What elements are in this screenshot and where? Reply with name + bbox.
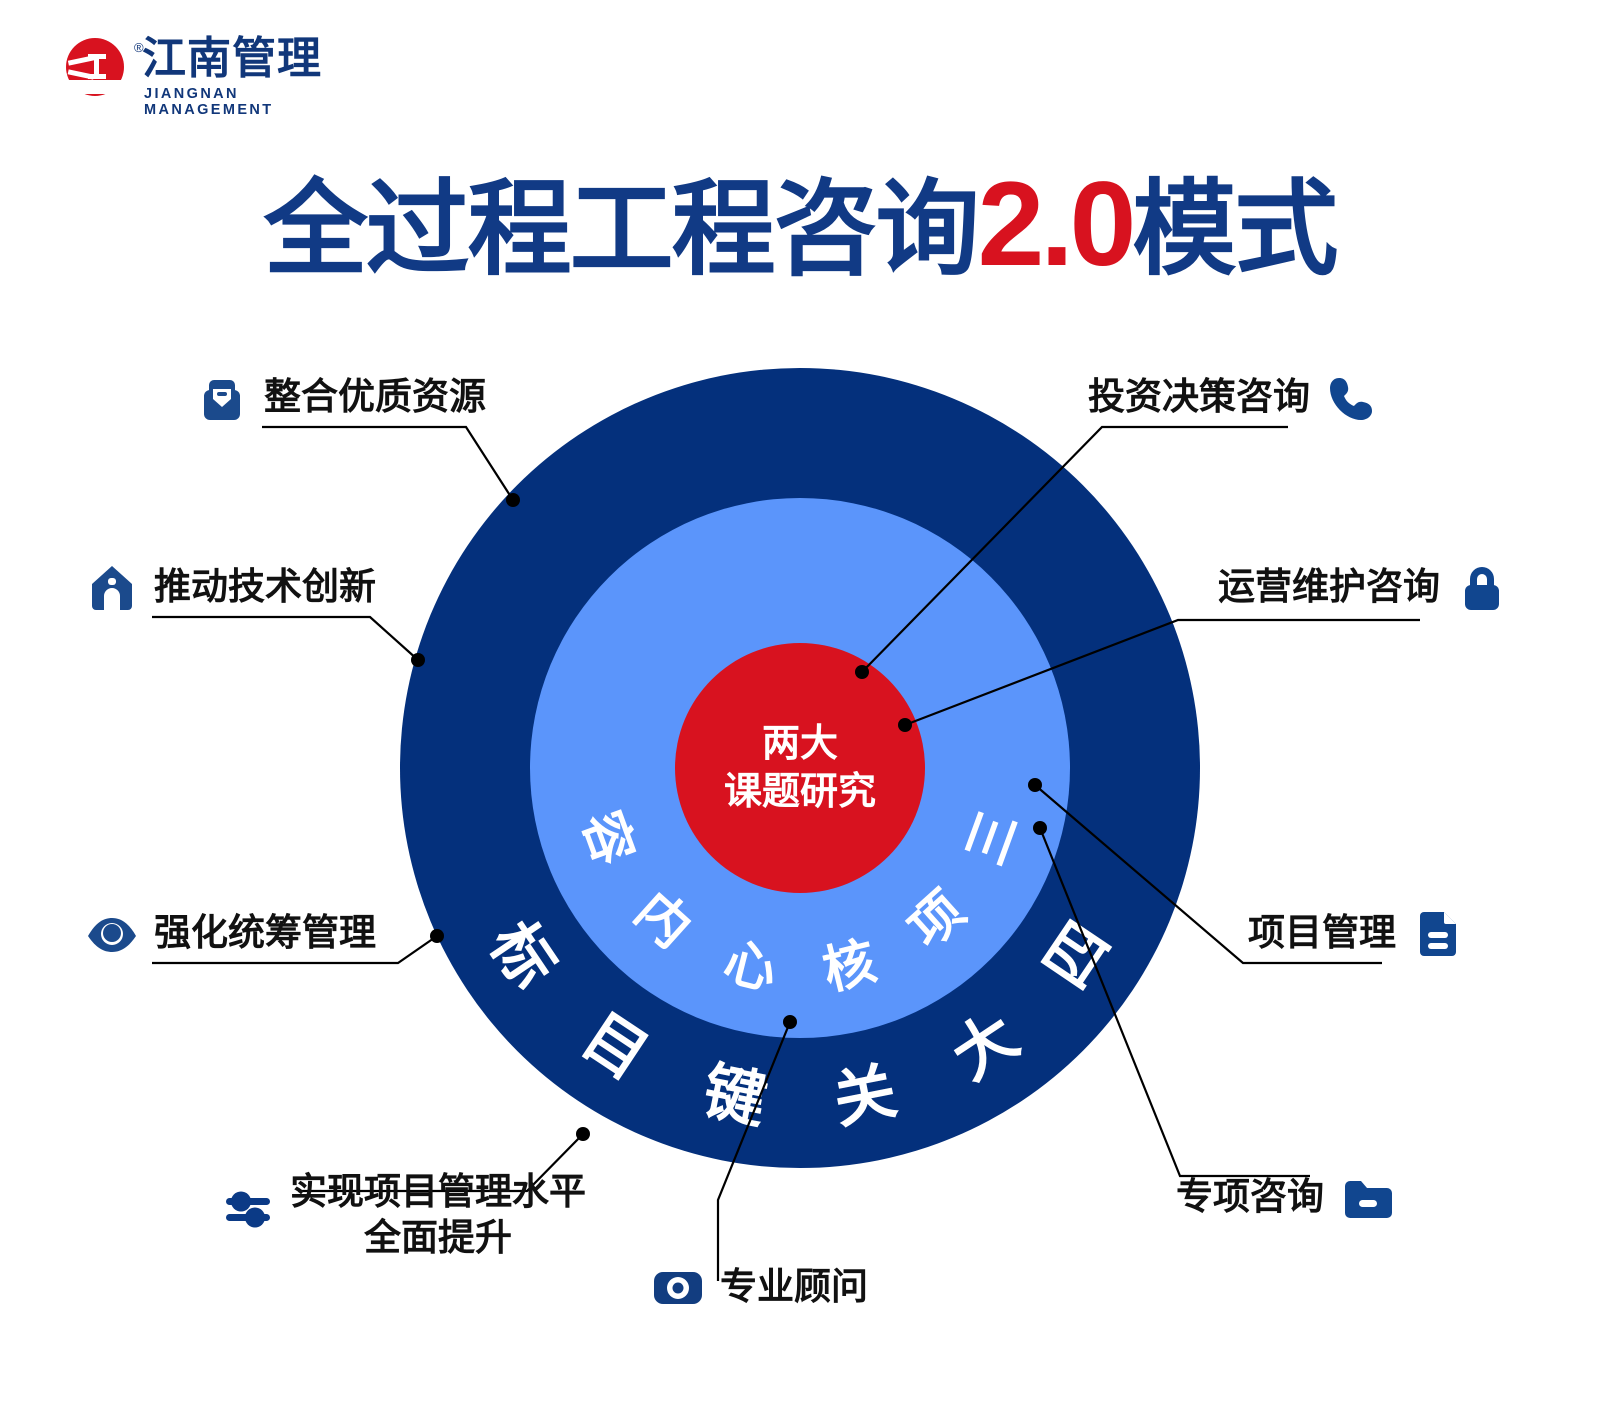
callout-integrate-resources[interactable]: 整合优质资源 xyxy=(196,372,486,424)
callout-investment-decision-consulting[interactable]: 投资决策咨询 xyxy=(1088,372,1378,424)
callout-special-consulting[interactable]: 专项咨询 xyxy=(1176,1172,1392,1224)
callout-raise-pm-level[interactable]: 实现项目管理水平 全面提升 xyxy=(222,1170,586,1262)
callout-label-line2: 全面提升 xyxy=(364,1218,512,1259)
eye-icon xyxy=(86,908,138,960)
callout-label: 推动技术创新 xyxy=(154,566,376,610)
aperture-icon xyxy=(652,1262,704,1314)
callout-project-management[interactable]: 项目管理 xyxy=(1248,908,1464,960)
lock-icon xyxy=(1456,562,1508,614)
callout-professional-consultant[interactable]: 专业顾问 xyxy=(652,1262,868,1314)
briefcase-icon xyxy=(196,372,248,424)
callout-label: 专项咨询 xyxy=(1176,1176,1324,1220)
callout-drive-tech-innovation[interactable]: 推动技术创新 xyxy=(86,562,376,614)
callout-label: 项目管理 xyxy=(1248,912,1396,956)
callout-label: 投资决策咨询 xyxy=(1088,376,1310,420)
callout-label: 强化统筹管理 xyxy=(154,912,376,956)
folder-icon xyxy=(1340,1172,1392,1224)
callout-label-line1: 实现项目管理水平 xyxy=(290,1172,586,1213)
callout-label: 实现项目管理水平 全面提升 xyxy=(290,1170,586,1262)
callout-label: 专业顾问 xyxy=(720,1266,868,1310)
document-icon xyxy=(1412,908,1464,960)
phone-icon xyxy=(1326,372,1378,424)
callout-strengthen-coordination[interactable]: 强化统筹管理 xyxy=(86,908,376,960)
sliders-icon xyxy=(222,1182,274,1234)
home-icon xyxy=(86,562,138,614)
callout-label: 运营维护咨询 xyxy=(1218,566,1440,610)
callout-operation-maintenance-consulting[interactable]: 运营维护咨询 xyxy=(1218,562,1508,614)
callout-label: 整合优质资源 xyxy=(264,376,486,420)
